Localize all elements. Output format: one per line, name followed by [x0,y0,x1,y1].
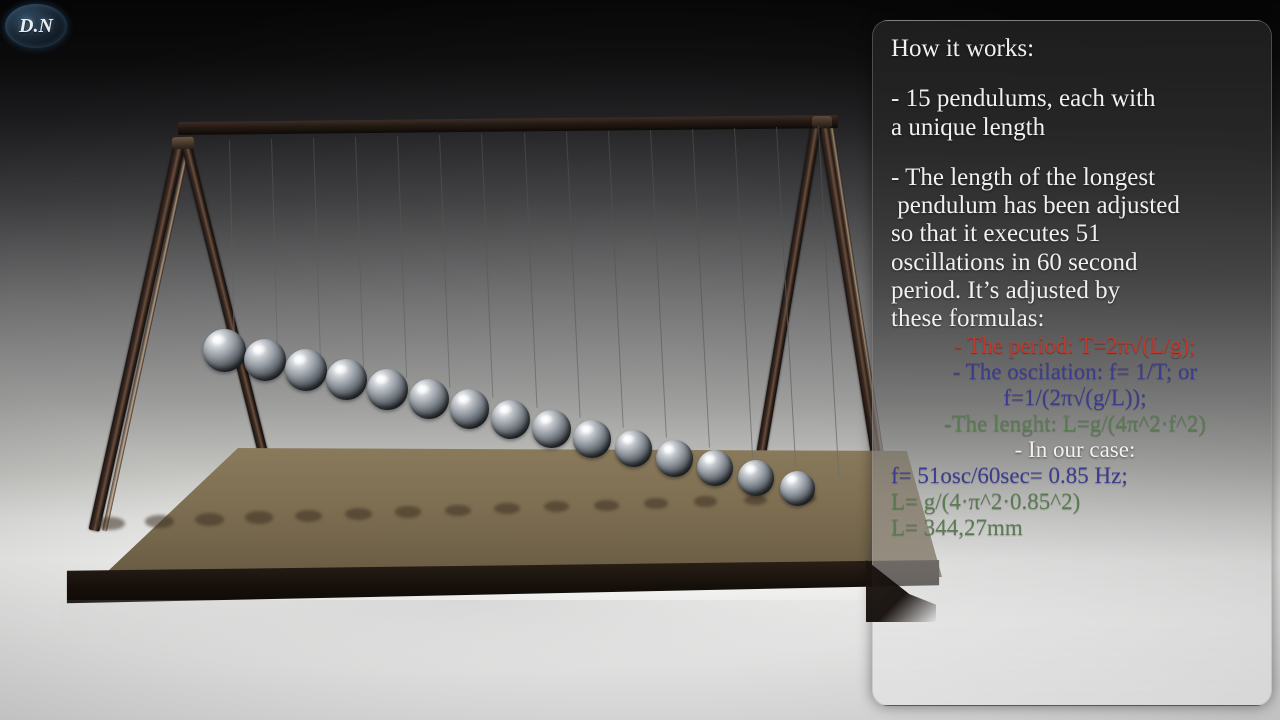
case-length-result: L= 344,27mm [891,515,1259,541]
pendulum-ball [656,440,693,477]
panel-bullet-line-2: a unique length [891,114,1259,142]
case-length-formula: L= g/(4·π^2·0.85^2) [891,489,1259,515]
panel-bullet-line-1: - 15 pendulums, each with [891,85,1259,113]
panel-paragraph-line-1: - The length of the longest [891,164,1259,192]
panel-heading: How it works: [891,35,1259,63]
pendulum-wire [734,128,753,458]
pendulum-ball [244,339,286,381]
pendulum-ball [285,349,327,391]
ball-shadow [594,500,618,511]
ball-shadow [744,495,767,505]
panel-spacer-2 [891,142,1259,164]
pendulum-wire [439,135,450,388]
ball-shadow [644,498,668,509]
panel-paragraph-line-2: pendulum has been adjusted [891,192,1259,220]
frame-left-leg-highlight [102,141,191,531]
pendulum-ball [615,430,652,467]
frame-joint-right [812,116,832,128]
formula-length: -The lenght: L=g/(4π^2·f^2) [891,411,1259,437]
pendulum-wire [271,139,278,348]
ball-shadow [145,515,174,528]
pendulum-wire [650,130,667,438]
pendulum-wire [355,137,364,368]
pendulum-ball [326,359,367,400]
pendulum-wire [313,138,321,358]
dn-logo-text: D.N [19,15,53,38]
pendulum-ball [738,460,774,496]
frame-joint-left [172,137,194,150]
ball-shadow [445,505,471,517]
formula-oscillation: - The oscilation: f= 1/T; or [891,359,1259,385]
pendulum-wire [608,131,624,428]
pendulum-ball [780,471,815,506]
pendulum-ball [203,329,246,372]
panel-paragraph-line-6: these formulas: [891,305,1259,333]
formula-period: - The period: T=2π√(L/g); [891,333,1259,359]
case-frequency: f= 51osc/60sec= 0.85 Hz; [891,463,1259,489]
panel-paragraph-line-4: oscillations in 60 second [891,249,1259,277]
frame-left-leg-front [89,139,186,532]
ball-shadow [694,496,717,506]
formula-oscillation-alt: f=1/(2π√(g/L)); [891,385,1259,411]
pendulum-ball [450,389,490,429]
ball-shadow [345,508,372,520]
video-frame: D.N How it works: - 15 pendulums, each w… [0,0,1280,720]
pendulum-wire [692,129,710,448]
case-heading: - In our case: [891,437,1259,463]
panel-spacer [891,63,1259,85]
pendulum-ball [532,410,570,448]
pendulum-ball [367,369,408,410]
ball-shadow [195,513,224,526]
ball-shadow [95,517,125,530]
pendulum-ball [409,379,449,419]
ball-shadow [295,510,323,522]
panel-paragraph-line-5: period. It’s adjusted by [891,277,1259,305]
dn-logo-badge: D.N [5,4,67,48]
ball-shadow [245,511,273,523]
frame-crossbar [178,115,838,135]
panel-paragraph-line-3: so that it executes 51 [891,220,1259,248]
pendulum-wire [397,136,407,378]
pendulum-ball [573,420,611,458]
pendulum-ball [491,400,530,439]
pendulum-wire [481,134,493,398]
pendulum-wire [776,127,796,468]
pendulum-wire [524,133,537,408]
floor-reflection [60,600,960,670]
pendulum-wire [566,132,581,418]
